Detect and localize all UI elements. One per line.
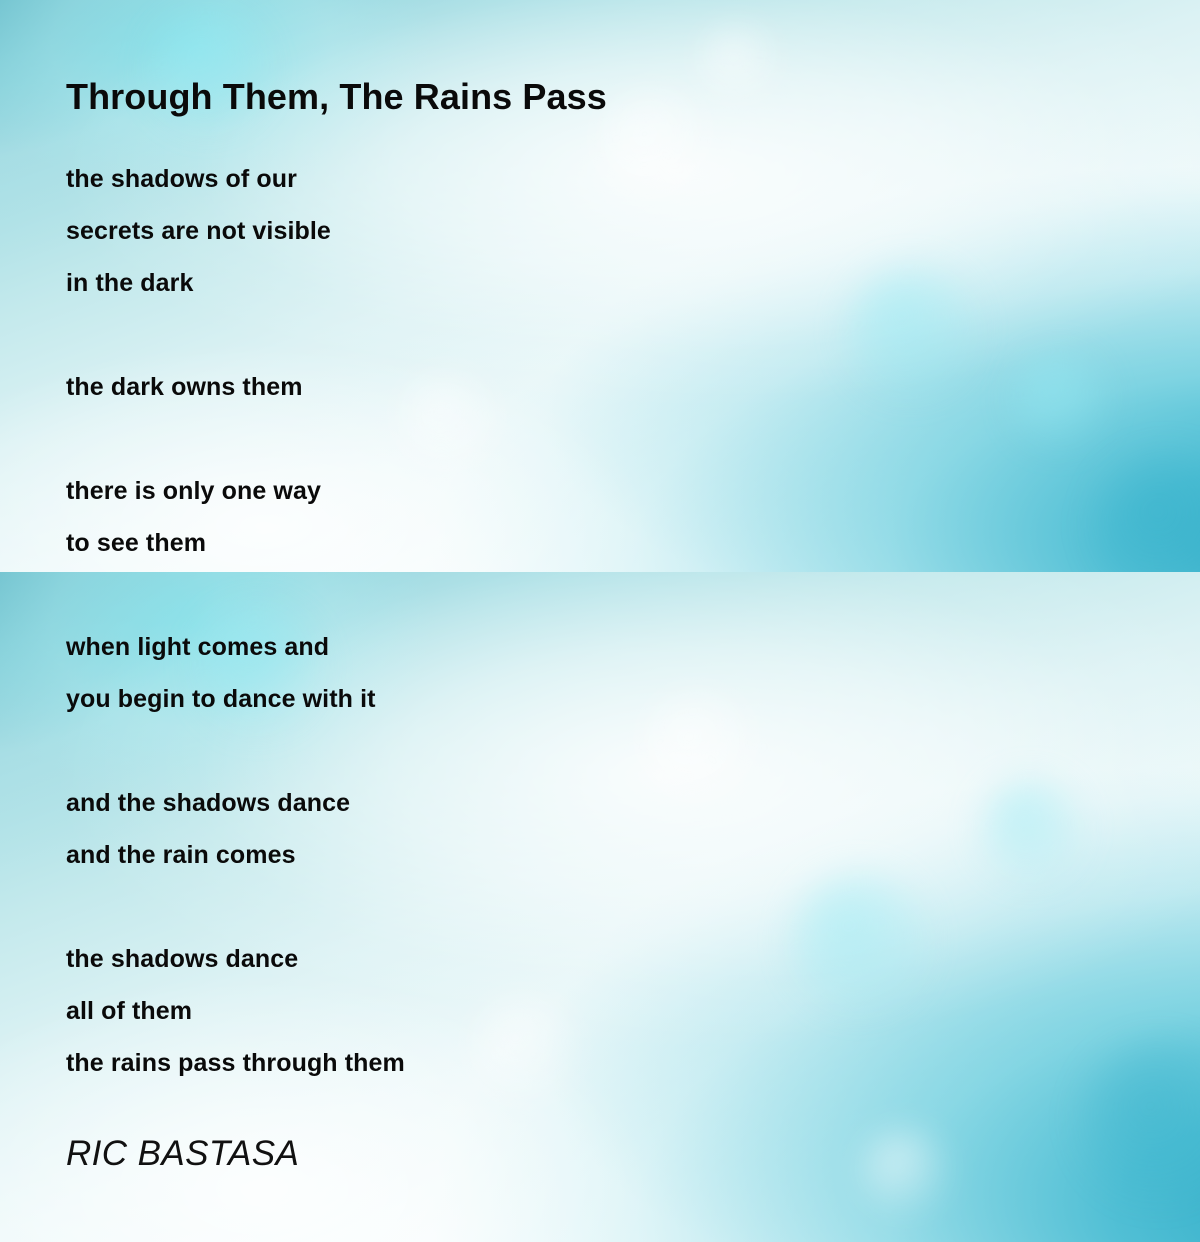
poem-line: you begin to dance with it [66,673,1066,725]
poem-line: the shadows of our [66,153,1066,205]
poem-author: RIC BASTASA [66,1134,299,1174]
poem-line: there is only one way [66,465,1066,517]
poem-line: all of them [66,985,1066,1037]
poem-stanza: the shadows of oursecrets are not visibl… [66,153,1066,309]
page-title: Through Them, The Rains Pass [66,76,607,118]
poem-line: to see them [66,517,1066,569]
poem-body: the shadows of oursecrets are not visibl… [66,153,1066,1089]
poem-line: and the shadows dance [66,777,1066,829]
poem-line: the dark owns them [66,361,1066,413]
poem-stanza: and the shadows danceand the rain comes [66,777,1066,881]
poem-stanza: the shadows danceall of themthe rains pa… [66,933,1066,1089]
poem-stanza: the dark owns them [66,361,1066,413]
poem-stanza: when light comes andyou begin to dance w… [66,621,1066,725]
poem-line: the shadows dance [66,933,1066,985]
poem-page: Through Them, The Rains Pass the shadows… [0,0,1200,1242]
poem-line: and the rain comes [66,829,1066,881]
poem-line: in the dark [66,257,1066,309]
poem-line: secrets are not visible [66,205,1066,257]
poem-content: Through Them, The Rains Pass the shadows… [0,0,1200,1242]
poem-line: when light comes and [66,621,1066,673]
poem-stanza: there is only one wayto see them [66,465,1066,569]
poem-line: the rains pass through them [66,1037,1066,1089]
